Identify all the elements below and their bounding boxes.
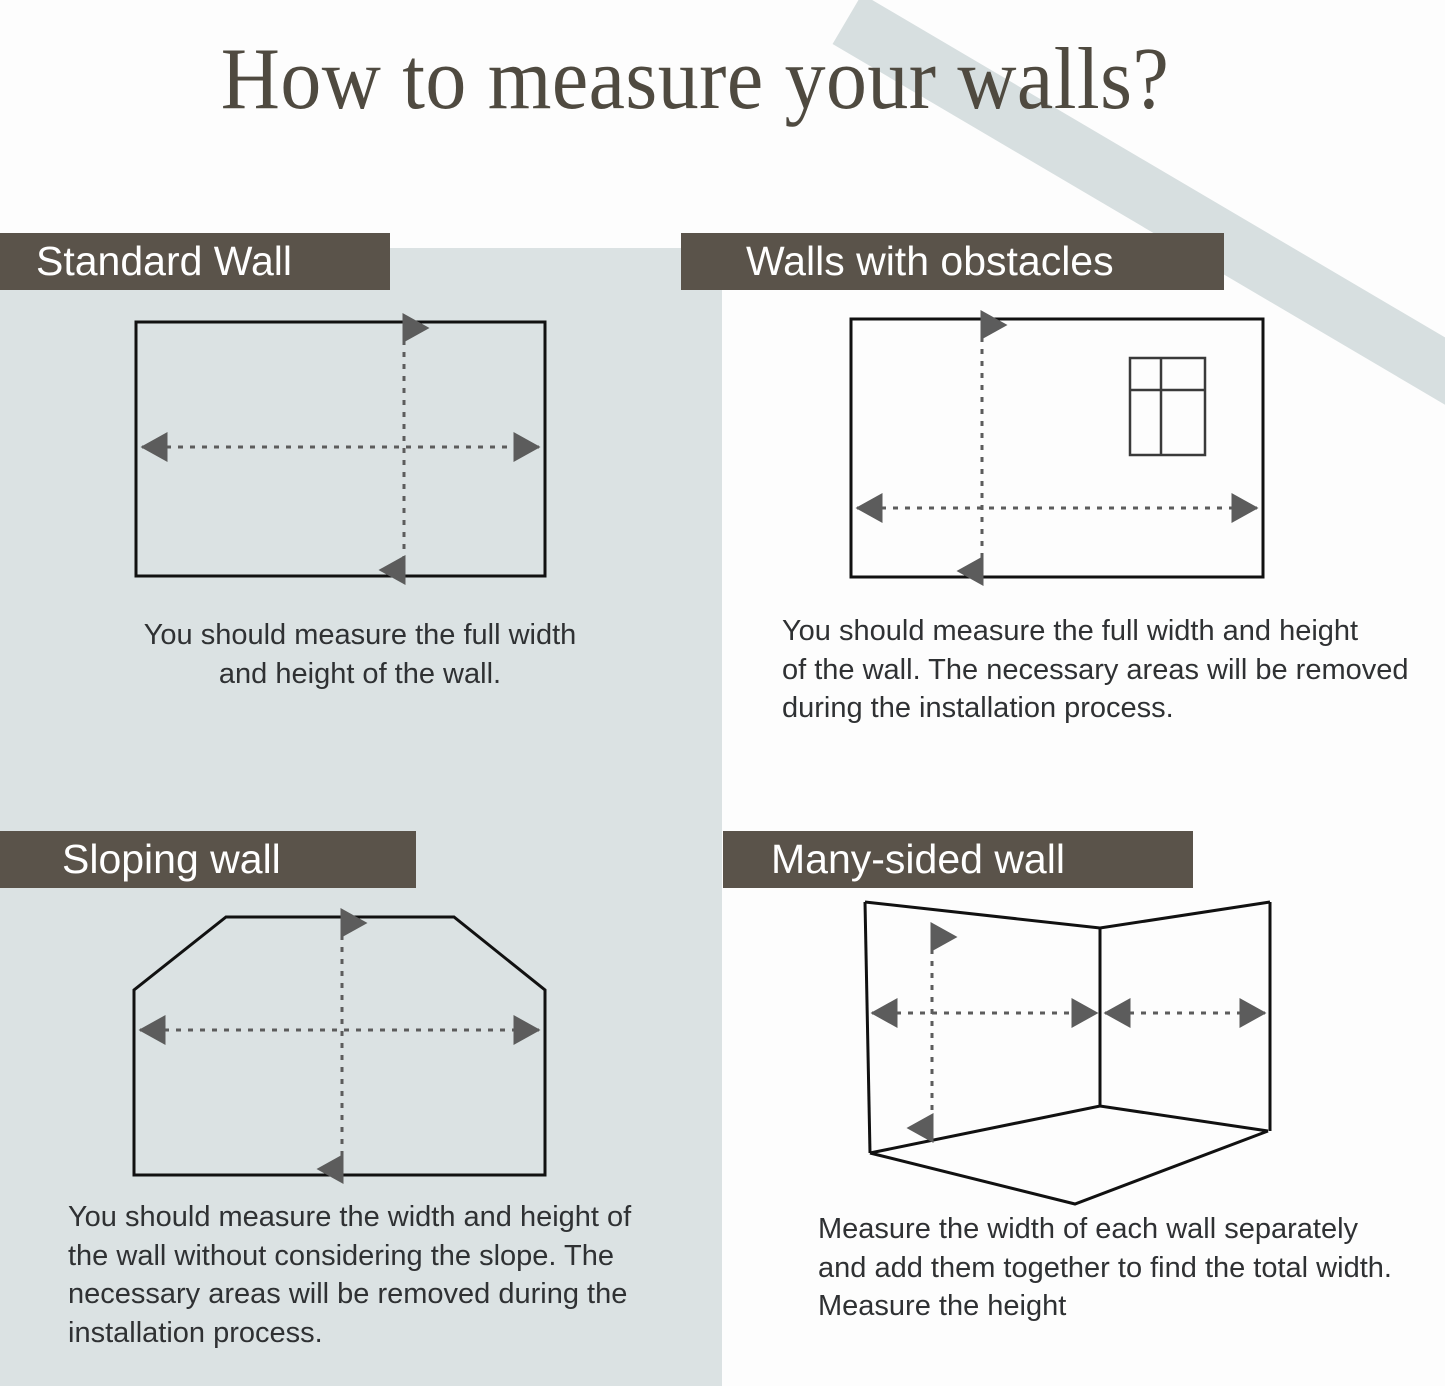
corner-room-outline — [865, 902, 1270, 1204]
section-heading-standard-wall: Standard Wall — [0, 233, 390, 290]
diagram-walls-with-obstacles — [830, 300, 1290, 600]
diagram-many-sided-wall — [835, 885, 1315, 1215]
window-obstacle — [1130, 358, 1205, 455]
caption-sloping-wall: You should measure the width and height … — [68, 1198, 668, 1352]
section-heading-sloping-wall: Sloping wall — [0, 831, 416, 888]
caption-standard-wall: You should measure the full width and he… — [100, 616, 620, 693]
section-heading-label: Many-sided wall — [771, 839, 1065, 880]
infographic-page: How to measure your walls? Standard Wall — [0, 0, 1445, 1386]
section-heading-walls-with-obstacles: Walls with obstacles — [681, 233, 1224, 290]
caption-walls-with-obstacles: You should measure the full width and he… — [782, 612, 1422, 728]
section-heading-label: Standard Wall — [36, 241, 292, 282]
wall-outline — [134, 917, 545, 1175]
wall-outline — [136, 322, 545, 576]
page-title: How to measure your walls? — [49, 34, 1342, 126]
section-heading-label: Walls with obstacles — [746, 241, 1114, 282]
caption-many-sided-wall: Measure the width of each wall separatel… — [818, 1210, 1428, 1326]
diagram-sloping-wall — [110, 895, 580, 1195]
diagram-standard-wall — [110, 300, 580, 600]
section-heading-many-sided-wall: Many-sided wall — [723, 831, 1193, 888]
section-heading-label: Sloping wall — [62, 839, 281, 880]
